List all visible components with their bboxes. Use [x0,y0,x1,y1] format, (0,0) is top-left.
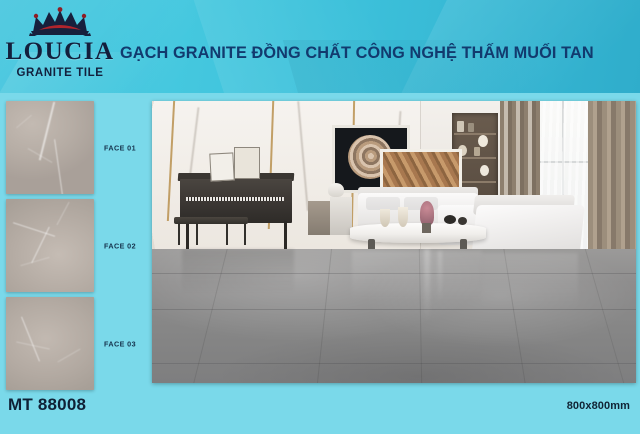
shelf-decor [457,121,464,132]
face-thumbnail-strip: FACE 01 FACE 02 FAC [6,101,146,395]
shelf-decor [468,123,474,132]
product-size: 800x800mm [567,400,630,412]
window-light-reflection [438,251,442,305]
table-decor-vase [380,209,390,227]
face-03-label: FACE 03 [104,339,136,348]
bench-leg [196,223,198,245]
piano-leg [284,221,287,249]
shelf-decor [474,147,480,156]
sheet-music [209,152,234,181]
page-title: GẠCH GRANITE ĐỒNG CHẤT CÔNG NGHỆ THẤM MU… [120,44,630,63]
brand-name: LOUCIA [6,39,115,64]
grout-line [152,363,636,364]
thumbnail-row: FACE 02 [6,199,146,292]
room-scene [152,101,636,383]
content-area: FACE 01 FACE 02 FAC [0,93,640,434]
face-02-label: FACE 02 [104,241,136,250]
table-flowers [420,201,434,225]
thumbnail-row: FACE 01 [6,101,146,194]
sheet-music [234,147,260,179]
piano-keys [186,197,284,201]
shelf-board [454,133,496,135]
brand-tagline: GRANITE TILE [16,67,103,79]
piano-bench [174,217,248,224]
flower-pot [422,223,431,233]
face-03-thumbnail[interactable] [6,297,94,390]
pendant-light [478,135,488,147]
table-reflection [352,251,482,301]
tile-texture [6,297,94,390]
pendant-light [480,165,489,176]
sofa-reflection [482,253,578,309]
table-decor-bowl [458,217,467,225]
window-light-reflection [424,249,430,321]
table-decor-vase [398,207,408,227]
piano-reflection [182,249,294,295]
face-02-thumbnail[interactable] [6,199,94,292]
face-01-thumbnail[interactable] [6,101,94,194]
footer-bar: MT 88008 800x800mm [0,390,640,434]
face-01-label: FACE 01 [104,143,136,152]
table-decor-bowl [444,215,456,224]
product-code: MT 88008 [8,395,86,415]
pedestal-light [330,197,352,235]
grout-line [152,309,636,310]
table-lamp [328,183,344,197]
header-banner: LOUCIA GRANITE TILE GẠCH GRANITE ĐỒNG CH… [0,0,640,93]
interior-room-photo[interactable] [152,101,636,383]
crown-icon [27,6,93,36]
bench-leg [226,223,228,245]
bench-leg [178,223,180,245]
catalog-page: LOUCIA GRANITE TILE GẠCH GRANITE ĐỒNG CH… [0,0,640,434]
brand-logo[interactable]: LOUCIA GRANITE TILE [8,4,112,90]
thumbnail-row: FACE 03 [6,297,146,390]
tile-texture [6,199,94,292]
bench-leg [244,223,246,245]
piano-leg [186,221,189,249]
